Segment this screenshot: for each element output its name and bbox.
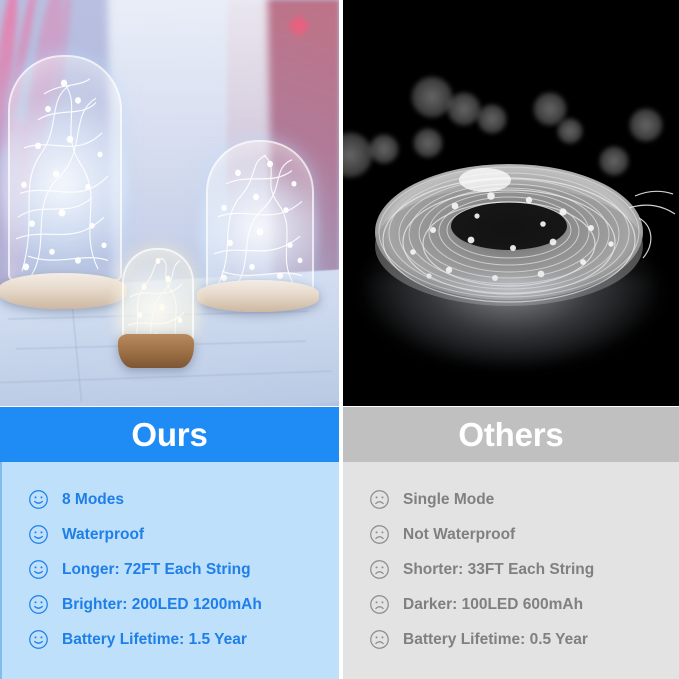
- surface-reflection: [366, 276, 656, 368]
- ours-header: Ours: [0, 407, 339, 462]
- smiley-face-icon: [28, 489, 49, 510]
- ours-product-photo: [0, 0, 339, 406]
- others-title: Others: [458, 418, 563, 451]
- feature-label: Single Mode: [403, 492, 494, 508]
- lamp-base-cork: [118, 334, 194, 368]
- feature-label: Battery Lifetime: 1.5 Year: [62, 632, 247, 648]
- list-item: Waterproof: [28, 517, 339, 552]
- frowny-face-icon: [369, 594, 390, 615]
- list-item: Not Waterproof: [369, 517, 679, 552]
- glass-dome-fairy-lights-photo: [0, 0, 339, 406]
- comparison-infographic: Ours Others 8 Modes: [0, 0, 679, 679]
- column-headers: Ours Others: [0, 407, 679, 462]
- photo-row: [0, 0, 679, 406]
- frowny-face-icon: [369, 559, 390, 580]
- dome-lamp-medium: [206, 140, 310, 302]
- smiley-face-icon: [28, 629, 49, 650]
- lamp-base: [0, 273, 127, 309]
- dome-lamp-small: [122, 248, 190, 364]
- smiley-face-icon: [28, 594, 49, 615]
- lamp-base: [197, 280, 319, 312]
- feature-label: Shorter: 33FT Each String: [403, 562, 594, 578]
- feature-label: Longer: 72FT Each String: [62, 562, 251, 578]
- smiley-face-icon: [28, 559, 49, 580]
- ours-feature-list: 8 Modes Waterproof: [0, 462, 339, 679]
- ours-title: Ours: [131, 418, 207, 451]
- feature-label: 8 Modes: [62, 492, 124, 508]
- list-item: Darker: 100LED 600mAh: [369, 587, 679, 622]
- feature-label: Waterproof: [62, 527, 144, 543]
- feature-label: Brighter: 200LED 1200mAh: [62, 597, 262, 613]
- others-product-photo: [343, 0, 679, 406]
- list-item: Brighter: 200LED 1200mAh: [28, 587, 339, 622]
- fairy-light-wires: [206, 140, 310, 302]
- feature-panels: 8 Modes Waterproof: [0, 462, 679, 679]
- dome-lamp-large: [8, 55, 118, 295]
- others-feature-list: Single Mode Not Waterproof: [343, 462, 679, 679]
- others-header: Others: [343, 407, 679, 462]
- feature-label: Darker: 100LED 600mAh: [403, 597, 583, 613]
- frowny-face-icon: [369, 524, 390, 545]
- smiley-face-icon: [28, 524, 49, 545]
- feature-label: Battery Lifetime: 0.5 Year: [403, 632, 588, 648]
- frowny-face-icon: [369, 489, 390, 510]
- coiled-led-wire-dark-photo: [343, 0, 679, 406]
- list-item: Shorter: 33FT Each String: [369, 552, 679, 587]
- feature-label: Not Waterproof: [403, 527, 515, 543]
- list-item: Battery Lifetime: 0.5 Year: [369, 622, 679, 657]
- frowny-face-icon: [369, 629, 390, 650]
- list-item: Single Mode: [369, 482, 679, 517]
- list-item: Battery Lifetime: 1.5 Year: [28, 622, 339, 657]
- list-item: Longer: 72FT Each String: [28, 552, 339, 587]
- fairy-light-wires: [8, 55, 118, 295]
- list-item: 8 Modes: [28, 482, 339, 517]
